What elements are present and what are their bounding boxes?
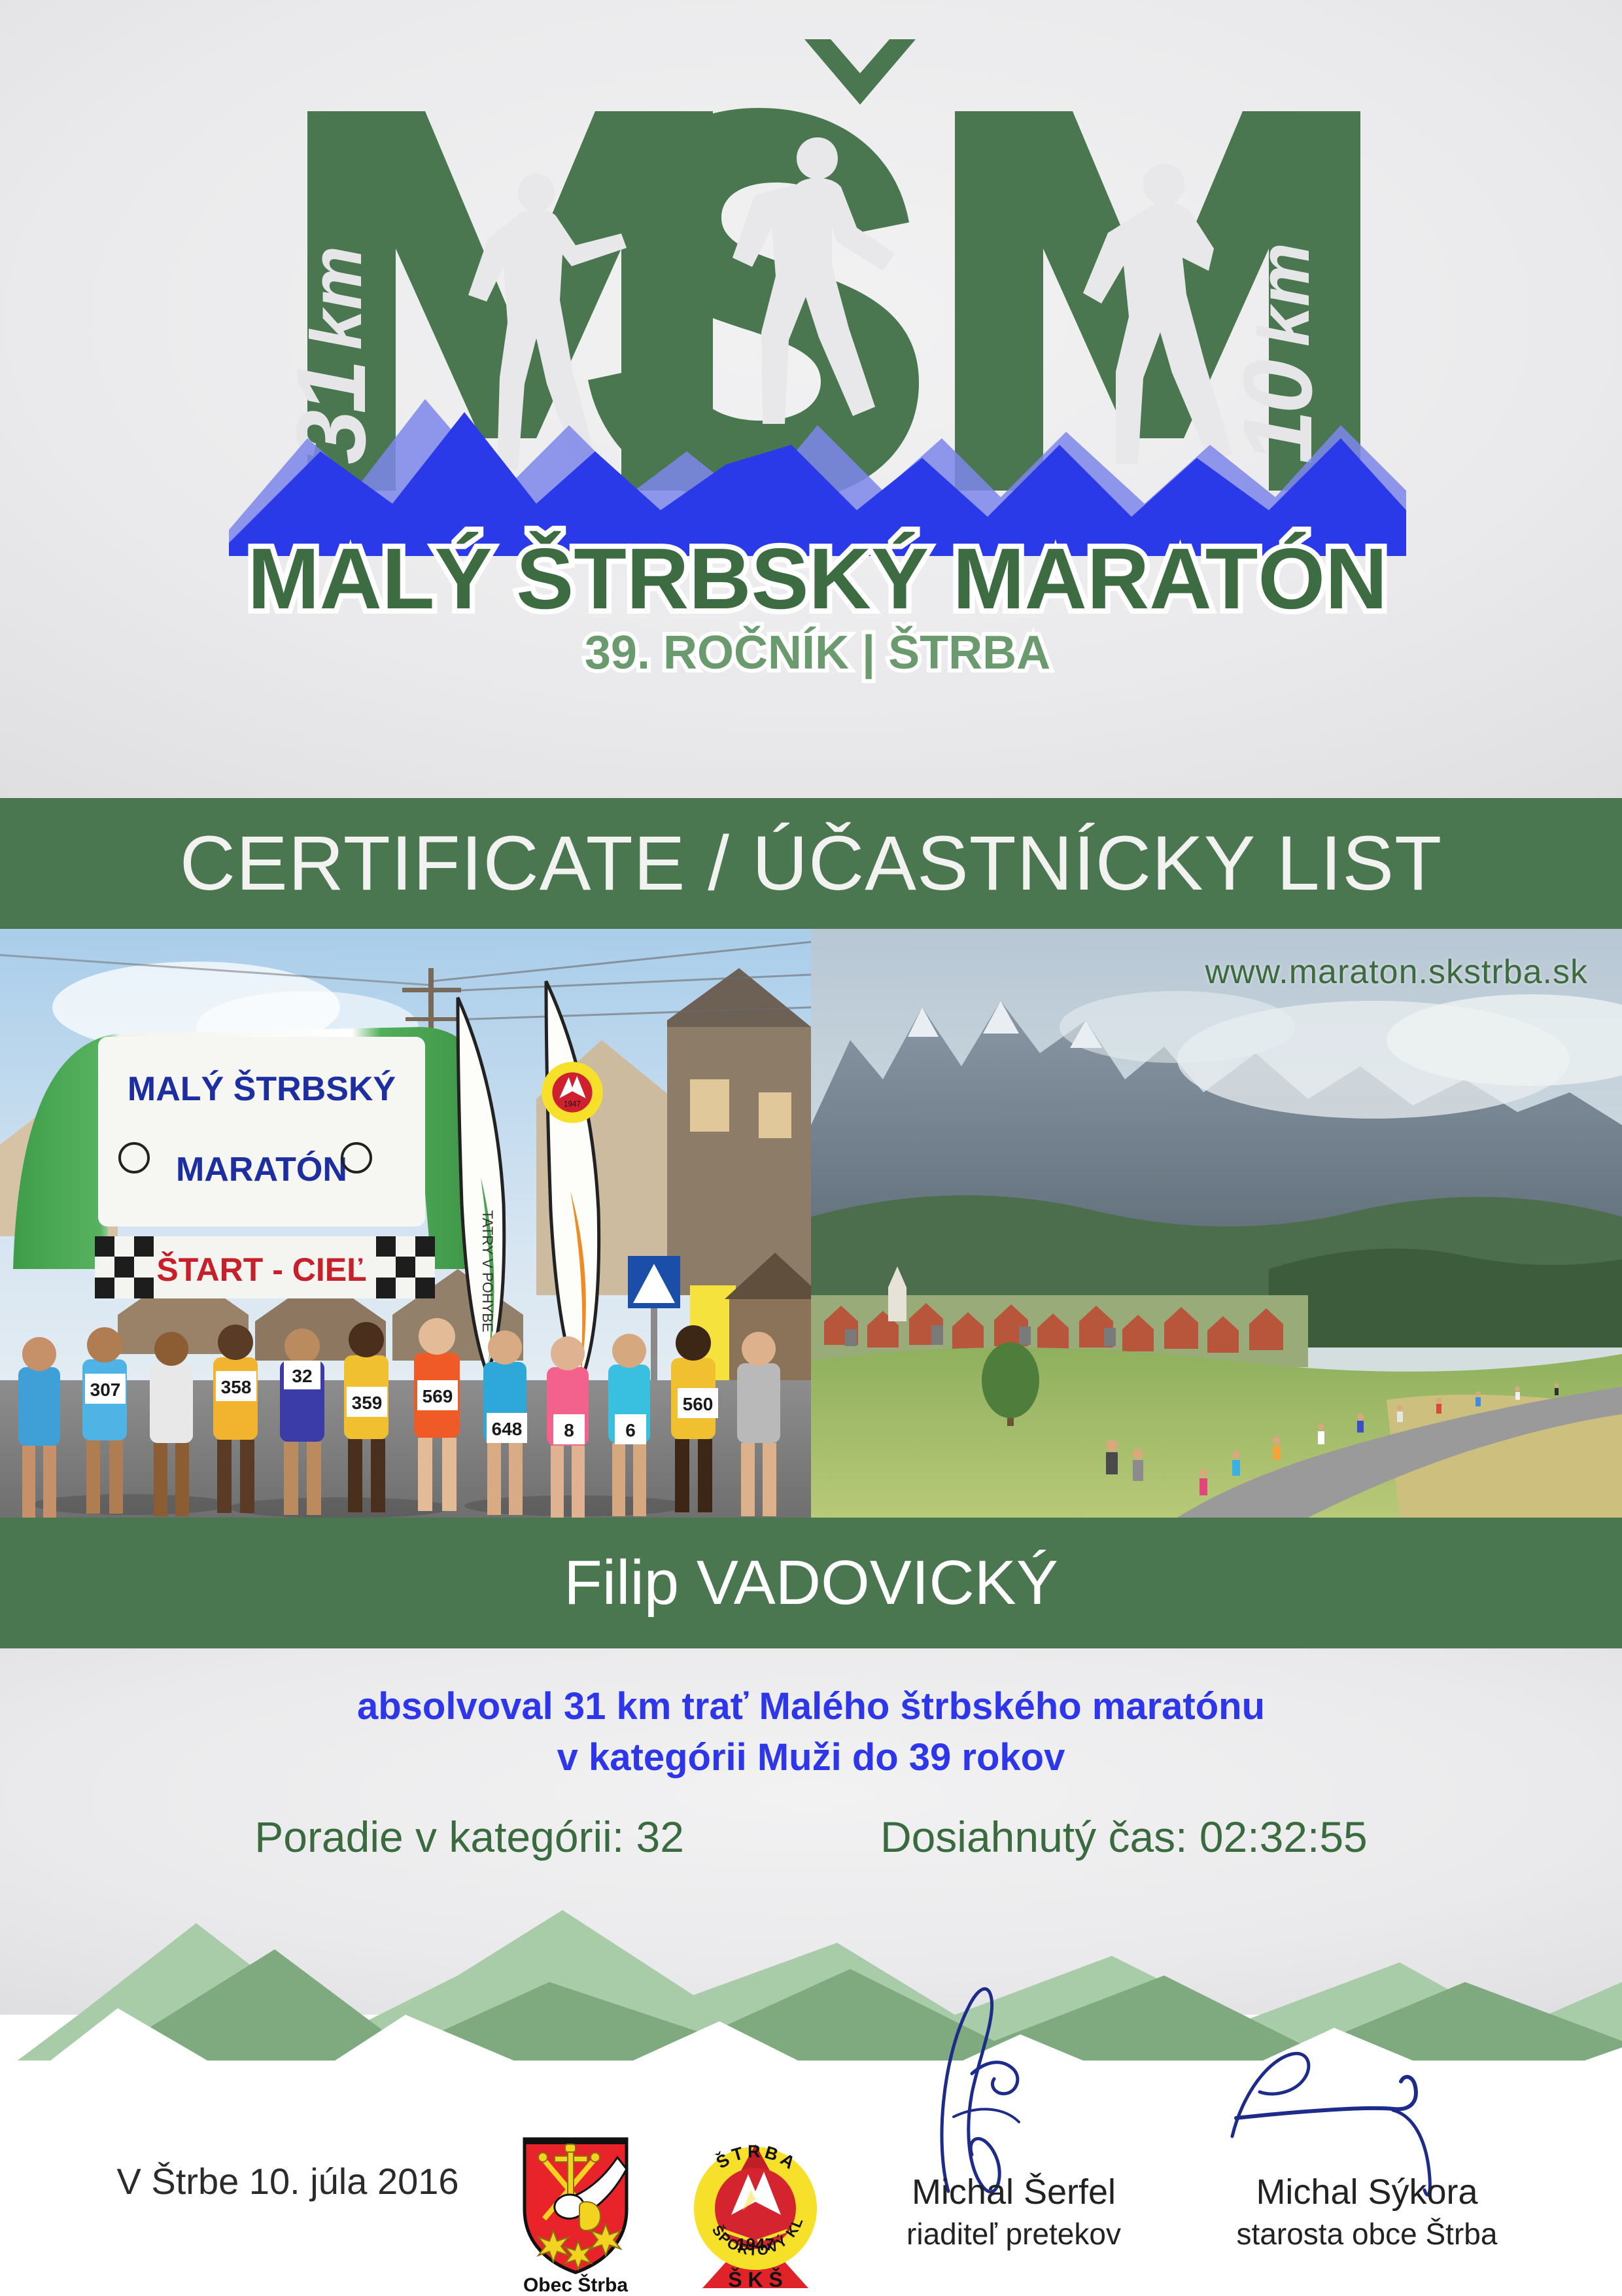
signatory-name: Michal Šerfel [844, 2172, 1184, 2212]
svg-text:569: 569 [423, 1386, 453, 1406]
signatory-role: starosta obce Štrba [1197, 2216, 1537, 2252]
photo-strip: MALÝ ŠTRBSKÝ MARATÓN · [0, 929, 1622, 1518]
event-logo: 31 km [0, 33, 1622, 726]
signature-block-mayor: Michal Sýkora starosta obce Štrba [1197, 2061, 1537, 2295]
svg-text:6: 6 [625, 1420, 636, 1440]
certificate-title-banner: CERTIFICATE / ÚČASTNÍCKY LIST [0, 798, 1622, 929]
svg-text:648: 648 [492, 1419, 523, 1439]
sks-club-logo: 1947 ŠTRBA ŠPORTOVÝ KLUB Š K Š [680, 2131, 831, 2295]
svg-text:10: 10 [1222, 360, 1332, 464]
svg-text:32: 32 [292, 1366, 312, 1386]
logo-title-text: MALÝ ŠTRBSKÝ MARATÓN [248, 531, 1388, 627]
description-line-2: v kategórii Muži do 39 rokov [0, 1732, 1622, 1783]
signature-michal-sykora [1197, 1982, 1537, 2198]
photo-race-start: MALÝ ŠTRBSKÝ MARATÓN · [0, 929, 811, 1518]
svg-text:560: 560 [683, 1394, 714, 1414]
website-url: www.maraton.skstrba.sk [1205, 952, 1589, 992]
msm-logo-graphic: 31 km [229, 33, 1406, 687]
logo-edition-text: 39. ROČNÍK | ŠTRBA [585, 626, 1050, 679]
signature-michal-serfel [844, 1982, 1184, 2198]
club-abbrev: Š K Š [728, 2268, 783, 2291]
svg-text:km: km [1244, 243, 1324, 347]
issue-date: V Štrbe 10. júla 2016 [72, 2160, 504, 2202]
signatory-role: riaditeľ pretekov [844, 2216, 1184, 2252]
arch-line2: MARATÓN [176, 1151, 347, 1189]
participant-name-banner: Filip VADOVICKÝ [0, 1518, 1622, 1648]
signatory-name: Michal Sýkora [1197, 2172, 1537, 2212]
svg-text:359: 359 [352, 1393, 383, 1413]
svg-text:8: 8 [564, 1420, 574, 1440]
start-finish-text: ŠTART - CIEĽ [156, 1251, 366, 1288]
photo-tatra-panorama: www.maraton.skstrba.sk [811, 929, 1622, 1518]
svg-text:1947: 1947 [564, 1100, 581, 1109]
svg-text:358: 358 [221, 1377, 252, 1397]
signature-block-director: Michal Šerfel riaditeľ pretekov [844, 2061, 1184, 2295]
results-block: Poradie v kategórii: 32 Dosiahnutý čas: … [0, 1812, 1622, 1862]
certificate-page: 31 km [0, 0, 1622, 2295]
logo-letter-m-right: 10 km [955, 111, 1360, 491]
finish-time: Dosiahnutý čas: 02:32:55 [880, 1812, 1368, 1862]
obec-strba-coat-of-arms: Obec Štrba [497, 2132, 654, 2296]
svg-text:31: 31 [276, 363, 386, 464]
certificate-title: CERTIFICATE / ÚČASTNÍCKY LIST [180, 819, 1442, 908]
hero-section: 31 km [0, 0, 1622, 798]
certificate-footer: V Štrbe 10. júla 2016 [0, 2061, 1622, 2295]
flag-text: TATRY V POHYBE [479, 1210, 496, 1332]
obec-strba-caption: Obec Štrba [523, 2274, 628, 2296]
description-block: absolvoval 31 km trať Malého štrbského m… [0, 1681, 1622, 1784]
description-line-1: absolvoval 31 km trať Malého štrbského m… [0, 1681, 1622, 1732]
svg-text:km: km [296, 246, 377, 350]
participant-name: Filip VADOVICKÝ [564, 1547, 1058, 1619]
svg-text:307: 307 [90, 1380, 121, 1400]
rank-in-category: Poradie v kategórii: 32 [254, 1812, 684, 1862]
